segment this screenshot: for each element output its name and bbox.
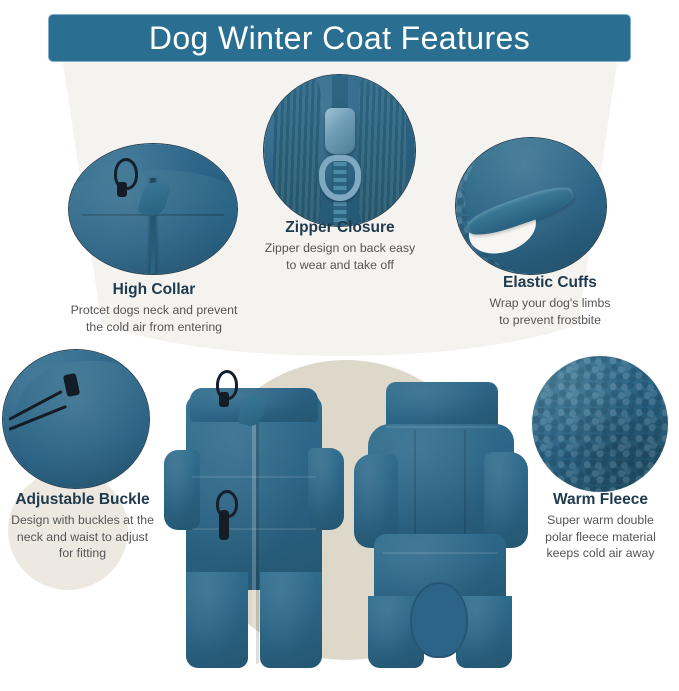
feature-title-elastic-cuffs: Elastic Cuffs [440,273,660,292]
coat-leg-left [186,572,248,668]
feature-title-adjustable-buckle: Adjustable Buckle [0,490,165,509]
zipper-pull-icon [319,155,361,201]
waist-seam [192,528,316,530]
zipper-slider-icon [325,108,355,154]
feature-desc-high-collar: Protcet dogs neck and prevent the cold a… [38,302,270,334]
sherpa-fleece-texture [532,356,668,492]
dog-coat-front-view [168,382,340,672]
chest-seam [192,476,316,478]
collar-cord-lock [219,392,229,407]
coat-sleeve-right [308,448,344,530]
zipper-closure-photo [263,74,416,227]
page-title-banner: Dog Winter Coat Features [48,14,631,62]
feature-desc-elastic-cuffs: Wrap your dog's limbs to prevent frostbi… [440,295,660,327]
hip-seam [382,552,498,554]
buckle-fabric [15,361,150,489]
feature-title-high-collar: High Collar [38,280,270,299]
caption-elastic-cuffs: Elastic Cuffs Wrap your dog's limbs to p… [440,273,660,328]
cord-lock [117,182,127,197]
dog-coat-back-view [352,382,528,672]
back-center-seam [464,430,466,534]
back-center-seam [414,430,416,534]
zipper-tape-left [273,75,321,226]
coat-high-collar [386,382,498,430]
feature-desc-warm-fleece: Super warm double polar fleece material … [522,512,679,561]
caption-warm-fleece: Warm Fleece Super warm double polar flee… [522,490,679,561]
adjustable-buckle-photo [2,349,150,489]
rear-opening [410,582,468,658]
waist-cord-lock [219,510,229,540]
collar-base-seam [386,426,498,428]
infographic-page: Dog Winter Coat Features High Collar Pro… [0,0,679,691]
caption-adjustable-buckle: Adjustable Buckle Design with buckles at… [0,490,165,561]
elastic-cuffs-photo [455,137,607,275]
feature-title-warm-fleece: Warm Fleece [522,490,679,509]
feature-desc-zipper-closure: Zipper design on back easy to wear and t… [240,240,440,272]
front-zipper-shadow [256,412,259,664]
high-collar-photo [68,143,238,275]
zipper-tape-right [358,75,406,226]
page-title: Dog Winter Coat Features [149,22,530,54]
coat-sleeve-left [164,450,200,530]
caption-high-collar: High Collar Protcet dogs neck and preven… [38,280,270,335]
warm-fleece-photo [531,355,669,493]
feature-title-zipper-closure: Zipper Closure [240,218,440,237]
caption-zipper-closure: Zipper Closure Zipper design on back eas… [240,218,440,273]
coat-leg-right [260,572,322,668]
feature-desc-adjustable-buckle: Design with buckles at the neck and wais… [0,512,165,561]
